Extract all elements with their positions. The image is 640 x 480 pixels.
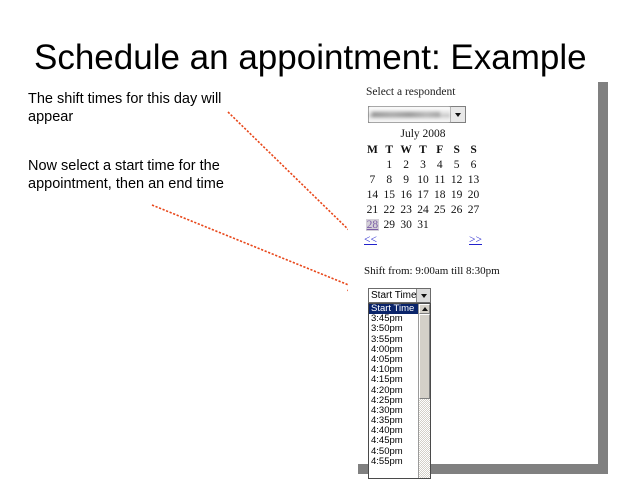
appointment-screenshot-panel: Select a respondent July 2008 M T W T F … (348, 82, 598, 464)
calendar-week-row: 1 2 3 4 5 6 (364, 157, 482, 172)
calendar-day (448, 217, 465, 232)
chevron-down-icon[interactable] (416, 289, 430, 302)
calendar-day[interactable]: 16 (398, 187, 415, 202)
calendar-day[interactable]: 31 (415, 217, 432, 232)
callout-text-2: Now select a start time for the appointm… (28, 157, 243, 193)
calendar-day-selected-link[interactable]: 28 (366, 219, 380, 231)
panel-shadow-right (598, 82, 608, 464)
calendar-day (431, 217, 448, 232)
weekday-header: S (465, 142, 482, 157)
calendar-day[interactable]: 7 (364, 172, 381, 187)
respondent-select[interactable] (368, 106, 466, 123)
calendar-month-label: July 2008 (364, 128, 482, 142)
calendar-navigation: << >> (364, 234, 482, 250)
calendar-day[interactable]: 24 (415, 202, 432, 217)
list-item[interactable]: 4:15pm (369, 375, 418, 385)
calendar-day[interactable]: 20 (465, 187, 482, 202)
calendar-day[interactable]: 18 (431, 187, 448, 202)
respondent-selected-value (369, 107, 450, 122)
triangle-up-icon[interactable] (419, 304, 430, 314)
weekday-header: T (381, 142, 398, 157)
calendar-week-row: 28 29 30 31 (364, 217, 482, 232)
calendar-header-row: M T W T F S S (364, 142, 482, 157)
scrollbar-thumb[interactable] (419, 314, 430, 399)
calendar-day[interactable]: 12 (448, 172, 465, 187)
shift-hours-text: Shift from: 9:00am till 8:30pm (364, 265, 500, 277)
weekday-header: M (364, 142, 381, 157)
page-title: Schedule an appointment: Example (34, 38, 614, 78)
listbox-scrollbar[interactable] (418, 304, 430, 478)
calendar-day[interactable]: 1 (381, 157, 398, 172)
calendar-day[interactable]: 9 (398, 172, 415, 187)
calendar-day[interactable]: 11 (431, 172, 448, 187)
calendar-day[interactable]: 4 (431, 157, 448, 172)
calendar-day[interactable]: 23 (398, 202, 415, 217)
calendar-day[interactable]: 13 (465, 172, 482, 187)
calendar-day[interactable]: 6 (465, 157, 482, 172)
start-time-options[interactable]: Start Time 3:45pm 3:50pm 3:55pm 4:00pm 4… (369, 304, 418, 478)
start-time-combo[interactable]: Start Time (368, 288, 431, 303)
calendar-day[interactable]: 17 (415, 187, 432, 202)
calendar-day[interactable]: 19 (448, 187, 465, 202)
arrow-line-2 (152, 205, 356, 288)
calendar-day (364, 157, 381, 172)
calendar-day[interactable]: 10 (415, 172, 432, 187)
calendar-day[interactable]: 2 (398, 157, 415, 172)
calendar-day-selected[interactable]: 28 (364, 217, 381, 232)
weekday-header: W (398, 142, 415, 157)
calendar-day[interactable]: 14 (364, 187, 381, 202)
start-time-listbox[interactable]: Start Time 3:45pm 3:50pm 3:55pm 4:00pm 4… (368, 303, 431, 479)
calendar-day (465, 217, 482, 232)
respondent-label: Select a respondent (366, 86, 455, 98)
calendar-day[interactable]: 3 (415, 157, 432, 172)
weekday-header: F (431, 142, 448, 157)
slide-canvas: Schedule an appointment: Example The shi… (0, 0, 640, 480)
weekday-header: T (415, 142, 432, 157)
list-item[interactable]: 4:55pm (369, 457, 418, 467)
calendar-next-link[interactable]: >> (469, 234, 482, 246)
calendar-day[interactable]: 5 (448, 157, 465, 172)
calendar-prev-link[interactable]: << (364, 234, 377, 246)
calendar-day[interactable]: 26 (448, 202, 465, 217)
callout-text-1: The shift times for this day will appear (28, 90, 243, 126)
weekday-header: S (448, 142, 465, 157)
calendar-week-row: 14 15 16 17 18 19 20 (364, 187, 482, 202)
calendar-day[interactable]: 27 (465, 202, 482, 217)
calendar-day[interactable]: 8 (381, 172, 398, 187)
calendar-widget: July 2008 M T W T F S S (364, 128, 482, 250)
chevron-down-icon[interactable] (450, 107, 465, 122)
calendar-day[interactable]: 29 (381, 217, 398, 232)
calendar-week-row: 7 8 9 10 11 12 13 (364, 172, 482, 187)
calendar-day[interactable]: 30 (398, 217, 415, 232)
calendar-table: M T W T F S S 1 2 3 4 (364, 142, 482, 232)
calendar-day[interactable]: 15 (381, 187, 398, 202)
calendar-week-row: 21 22 23 24 25 26 27 (364, 202, 482, 217)
start-time-combo-value: Start Time (369, 289, 416, 302)
calendar-day[interactable]: 21 (364, 202, 381, 217)
calendar-day[interactable]: 22 (381, 202, 398, 217)
arrow-line-1 (228, 112, 356, 237)
calendar-day[interactable]: 25 (431, 202, 448, 217)
